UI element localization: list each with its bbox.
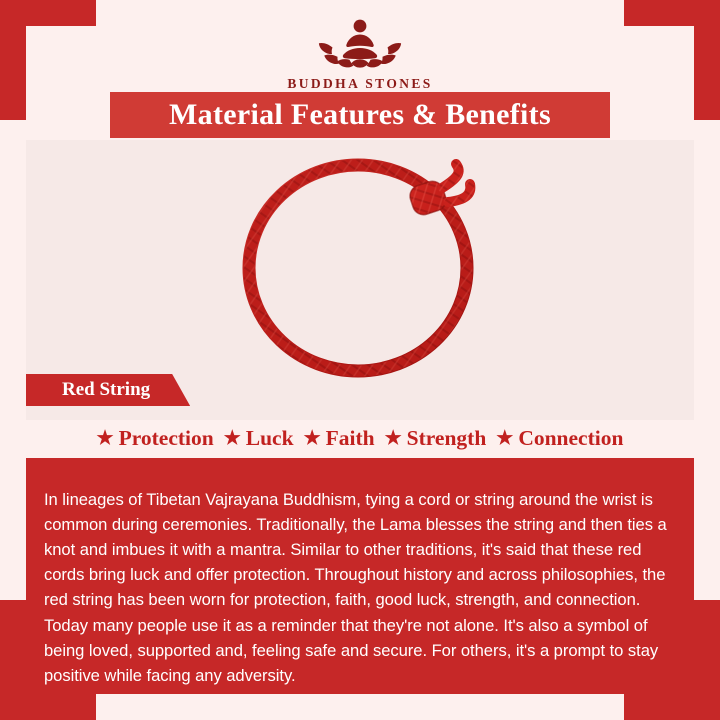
description-block: In lineages of Tibetan Vajrayana Buddhis… <box>26 458 694 694</box>
keyword-label: Strength <box>407 426 487 451</box>
product-label: Red String <box>62 379 150 401</box>
keyword-label: Connection <box>518 426 623 451</box>
description-text: In lineages of Tibetan Vajrayana Buddhis… <box>44 487 678 689</box>
red-braided-string-bracelet-image <box>210 150 510 390</box>
keyword-connection: ★ Connection <box>493 426 626 451</box>
keyword-strength: ★ Strength <box>382 426 490 451</box>
product-image <box>26 140 694 400</box>
keyword-label: Protection <box>119 426 214 451</box>
lotus-meditation-figure-icon <box>301 14 419 74</box>
frame-corner-bottom-right-vertical <box>694 600 720 720</box>
frame-corner-bottom-left-vertical <box>0 600 26 720</box>
star-icon: ★ <box>385 429 402 448</box>
brand-logo-block: BUDDHA STONES <box>0 14 720 92</box>
keyword-label: Faith <box>326 426 375 451</box>
star-icon: ★ <box>304 429 321 448</box>
keyword-luck: ★ Luck <box>221 426 297 451</box>
infographic-page: BUDDHA STONES Material Features & Benefi… <box>0 0 720 720</box>
keyword-faith: ★ Faith <box>301 426 378 451</box>
star-icon: ★ <box>224 429 241 448</box>
star-icon: ★ <box>97 429 114 448</box>
keyword-protection: ★ Protection <box>94 426 217 451</box>
star-icon: ★ <box>496 429 513 448</box>
brand-name: BUDDHA STONES <box>287 76 432 92</box>
keyword-label: Luck <box>246 426 294 451</box>
page-title: Material Features & Benefits <box>169 98 551 132</box>
keyword-row: ★ Protection ★ Luck ★ Faith ★ Strength ★… <box>26 418 694 458</box>
title-banner: Material Features & Benefits <box>110 92 610 138</box>
product-label-tab: Red String <box>26 374 190 406</box>
